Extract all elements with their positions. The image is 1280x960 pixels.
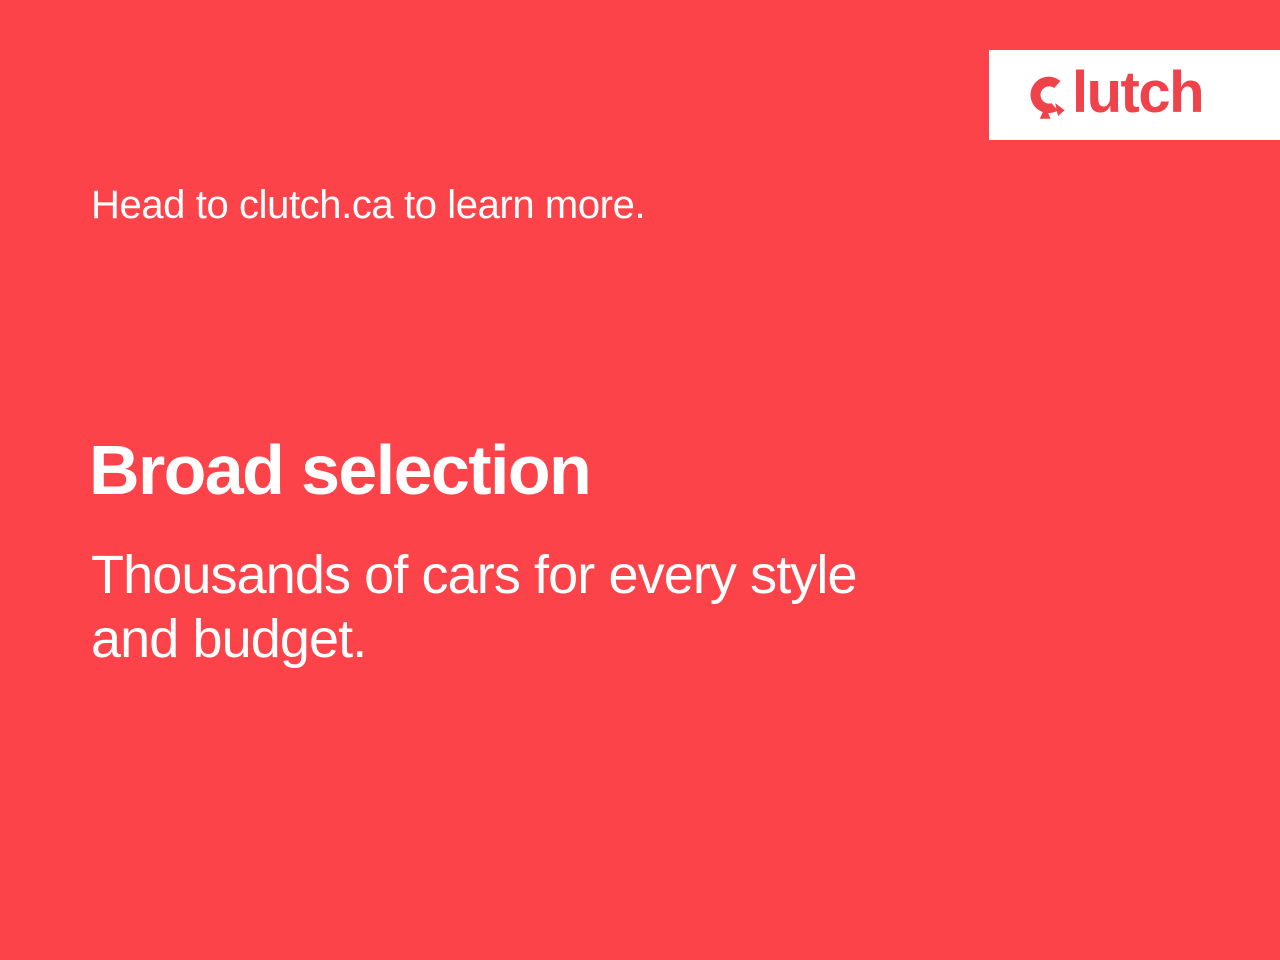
promo-slide: lutch Head to clutch.ca to learn more. B… [0,0,1280,960]
brand-badge: lutch [989,50,1280,140]
subheadline-line-2: and budget. [91,607,1051,671]
headline: Broad selection [89,434,590,508]
subheadline: Thousands of cars for every style and bu… [91,543,1051,672]
subheadline-line-1: Thousands of cars for every style [91,543,1051,607]
clutch-logo[interactable]: lutch [1020,66,1205,124]
clutch-c-mark-icon [1020,70,1072,122]
clutch-wordmark: lutch [1072,64,1203,122]
tagline: Head to clutch.ca to learn more. [91,181,645,229]
